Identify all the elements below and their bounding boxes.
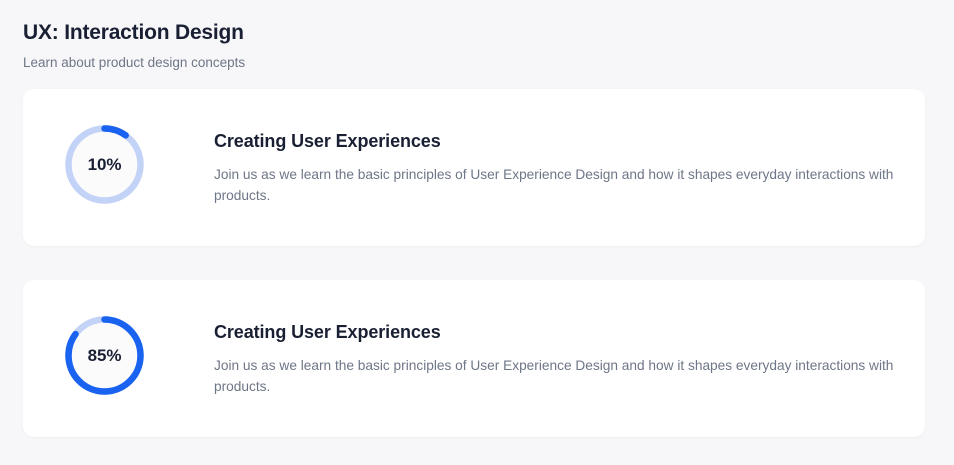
progress-percent-label: 85% bbox=[65, 316, 144, 395]
page-header: UX: Interaction Design Learn about produ… bbox=[23, 19, 723, 72]
course-card[interactable]: 85% Creating User Experiences Join us as… bbox=[23, 280, 925, 437]
course-description: Join us as we learn the basic principles… bbox=[214, 164, 895, 206]
course-card-body: Creating User Experiences Join us as we … bbox=[214, 315, 895, 397]
page-subtitle: Learn about product design concepts bbox=[23, 54, 723, 72]
course-card-body: Creating User Experiences Join us as we … bbox=[214, 124, 895, 206]
progress-ring: 10% bbox=[65, 125, 144, 204]
course-title: Creating User Experiences bbox=[214, 320, 895, 344]
progress-ring: 85% bbox=[65, 316, 144, 395]
page-title: UX: Interaction Design bbox=[23, 19, 723, 47]
progress-percent-label: 10% bbox=[65, 125, 144, 204]
course-card-list: 10% Creating User Experiences Join us as… bbox=[23, 89, 925, 437]
course-description: Join us as we learn the basic principles… bbox=[214, 355, 895, 397]
course-title: Creating User Experiences bbox=[214, 129, 895, 153]
course-card[interactable]: 10% Creating User Experiences Join us as… bbox=[23, 89, 925, 246]
page-root: UX: Interaction Design Learn about produ… bbox=[0, 0, 954, 465]
